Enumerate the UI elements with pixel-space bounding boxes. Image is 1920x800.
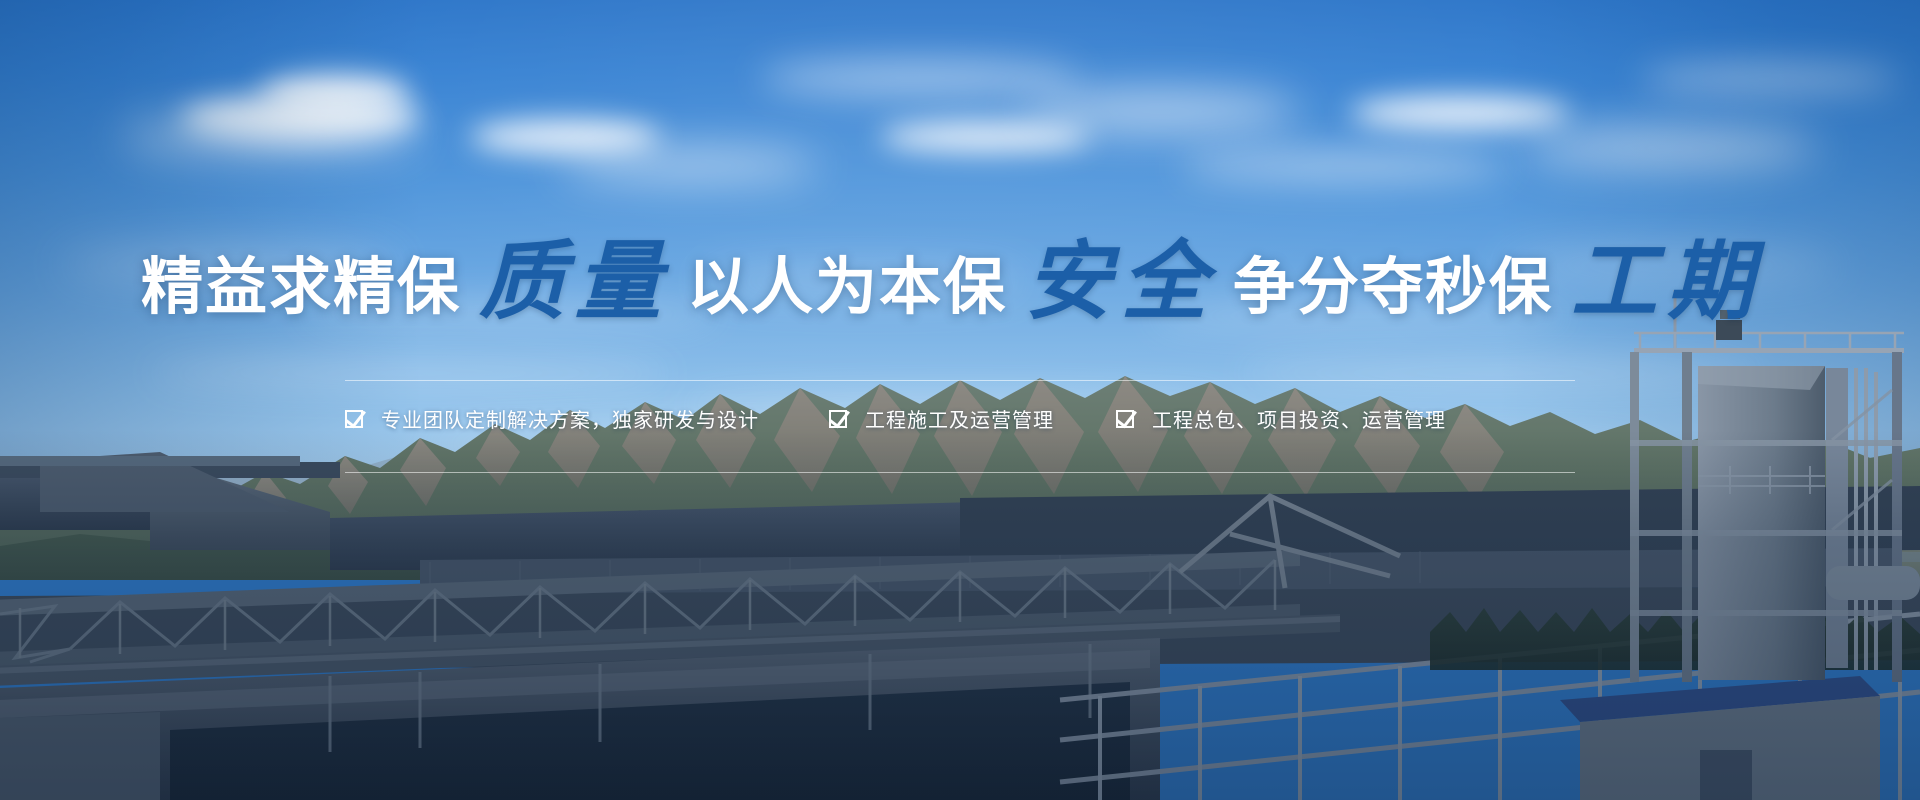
feature-item-3: 工程总包、项目投资、运营管理 xyxy=(1116,404,1446,433)
feature-list: 专业团队定制解决方案，独家研发与设计 工程施工及运营管理 工程总包、项目投资、运… xyxy=(345,404,1575,433)
divider-top xyxy=(345,380,1575,381)
feature-item-3-label: 工程总包、项目投资、运营管理 xyxy=(1152,404,1446,433)
checkbox-checked-icon xyxy=(345,410,363,428)
feature-item-1: 专业团队定制解决方案，独家研发与设计 xyxy=(345,404,759,433)
feature-item-2: 工程施工及运营管理 xyxy=(829,404,1054,433)
divider-bottom xyxy=(345,472,1575,473)
feature-item-2-label: 工程施工及运营管理 xyxy=(865,404,1054,433)
headline-segment-1: 精益求精保 xyxy=(141,257,461,319)
checkbox-checked-icon xyxy=(1116,410,1134,428)
headline-segment-2-calligraphy: 质量 xyxy=(479,239,671,325)
headline: 精益求精保质量以人为本保安全争分夺秒保工期 xyxy=(0,245,1920,331)
text-overlay: 精益求精保质量以人为本保安全争分夺秒保工期 专业团队定制解决方案，独家研发与设计… xyxy=(0,0,1920,800)
headline-segment-6-calligraphy: 工期 xyxy=(1571,239,1763,325)
feature-item-1-label: 专业团队定制解决方案，独家研发与设计 xyxy=(381,404,759,433)
headline-segment-5: 争分夺秒保 xyxy=(1233,257,1553,319)
hero-banner: 精益求精保质量以人为本保安全争分夺秒保工期 专业团队定制解决方案，独家研发与设计… xyxy=(0,0,1920,800)
headline-segment-4-calligraphy: 安全 xyxy=(1025,239,1217,325)
headline-segment-3: 以人为本保 xyxy=(687,257,1007,319)
checkbox-checked-icon xyxy=(829,410,847,428)
